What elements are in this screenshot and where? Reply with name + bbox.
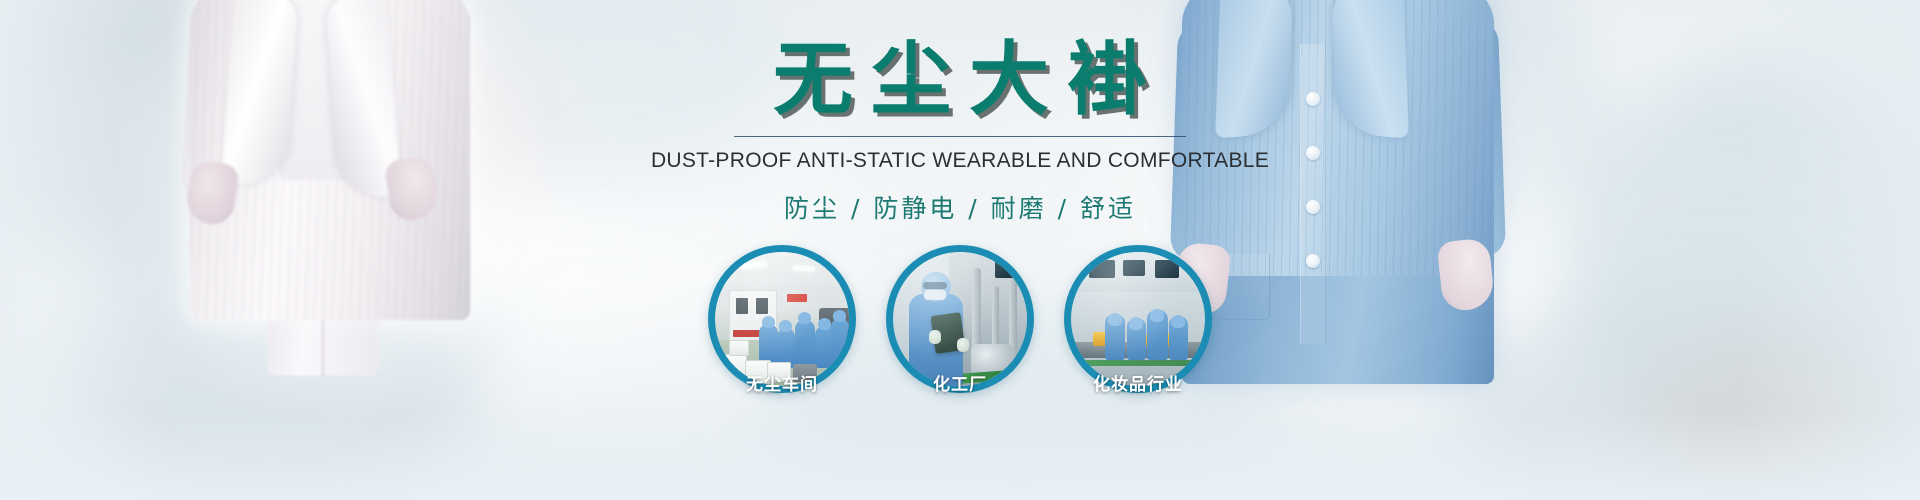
banner-content: 无尘大褂 DUST-PROOF ANTI-STATIC WEARABLE AND… (0, 0, 1920, 500)
industry-badge-cleanroom[interactable]: 无尘车间 (708, 245, 856, 393)
product-banner: 无尘大褂 DUST-PROOF ANTI-STATIC WEARABLE AND… (0, 0, 1920, 500)
feature-list: 防尘 / 防静电 / 耐磨 / 舒适 (784, 189, 1136, 225)
badge-label: 化妆品行业 (1093, 370, 1183, 395)
badge-ring: 无尘车间 (708, 245, 856, 393)
cleanroom-workshop-photo (715, 252, 849, 386)
badge-ring: 化工厂 (886, 245, 1034, 393)
chemical-plant-photo (893, 252, 1027, 386)
industry-badge-cosmetics[interactable]: 化妆品行业 (1064, 245, 1212, 393)
title-divider (734, 136, 1186, 137)
banner-title: 无尘大褂 (755, 36, 1165, 124)
banner-subtitle-english: DUST-PROOF ANTI-STATIC WEARABLE AND COMF… (651, 149, 1269, 173)
badge-ring: 化妆品行业 (1064, 245, 1212, 393)
badge-label: 无尘车间 (746, 370, 818, 395)
badge-label: 化工厂 (933, 370, 987, 395)
industry-badge-list: 无尘车间 (708, 245, 1212, 393)
cosmetics-industry-photo (1071, 252, 1205, 386)
industry-badge-chemical-plant[interactable]: 化工厂 (886, 245, 1034, 393)
